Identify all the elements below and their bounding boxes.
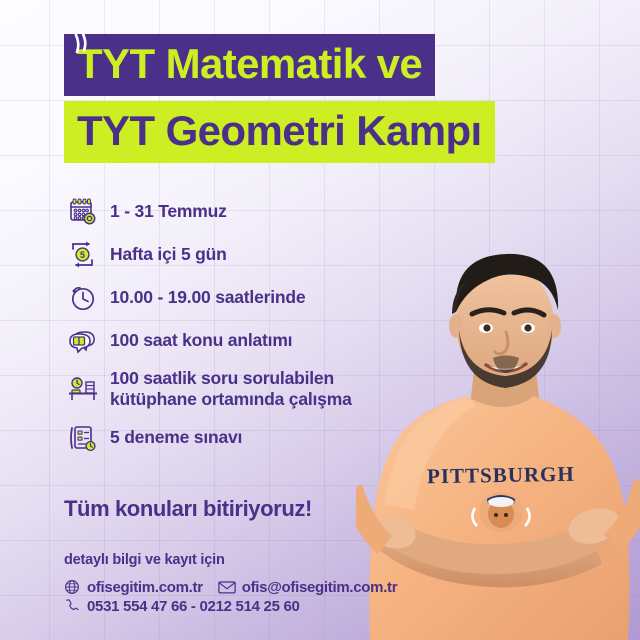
phone-icon <box>62 597 82 615</box>
feature-item-lessons: 100 saat konu anlatımı <box>62 320 402 361</box>
title-block: TYT Matematik ve TYT Geometri Kampı <box>64 34 495 163</box>
email-text: ofis@ofisegitim.com.tr <box>237 579 398 596</box>
feature-text: 5 deneme sınavı <box>104 427 242 448</box>
feature-item-library: 100 saatlik soru sorulabilen kütüphane o… <box>62 363 402 415</box>
contact-lead-text: detaylı bilgi ve kayıt için <box>64 552 225 568</box>
phone-text: 0531 554 47 66 - 0212 514 25 60 <box>82 598 300 615</box>
poster-canvas: PITTSBURGH <box>0 0 640 640</box>
speech-book-icon <box>62 322 104 360</box>
contact-row-primary: ofisegitim.com.tr ofis@ofisegitim.com.tr <box>62 578 397 596</box>
title-line-1: TYT Matematik ve <box>64 34 435 96</box>
cycle-5-icon: 5 <box>62 236 104 274</box>
study-desk-icon <box>62 370 104 408</box>
phone-item[interactable]: 0531 554 47 66 - 0212 514 25 60 <box>62 597 300 615</box>
feature-text: 100 saatlik soru sorulabilen kütüphane o… <box>104 368 352 409</box>
feature-text: 100 saat konu anlatımı <box>104 330 292 351</box>
feature-text-line1: 100 saatlik soru sorulabilen <box>110 368 334 388</box>
email-item[interactable]: ofis@ofisegitim.com.tr <box>217 578 398 596</box>
feature-text: 1 - 31 Temmuz <box>104 201 227 222</box>
website-text: ofisegitim.com.tr <box>82 579 203 596</box>
feature-text-line2: kütüphane ortamında çalışma <box>110 389 352 409</box>
slogan-text: Tüm konuları bitiriyoruz! <box>64 496 312 522</box>
calendar-icon <box>62 193 104 231</box>
clock-icon <box>62 279 104 317</box>
quote-mark-icon <box>69 31 95 57</box>
feature-item-hours: 10.00 - 19.00 saatlerinde <box>62 277 402 318</box>
title-line-2: TYT Geometri Kampı <box>64 101 495 163</box>
svg-text:PITTSBURGH: PITTSBURGH <box>427 462 575 489</box>
contact-block: ofisegitim.com.tr ofis@ofisegitim.com.tr <box>62 578 397 615</box>
feature-item-exams: 5 deneme sınavı <box>62 417 402 458</box>
svg-text:5: 5 <box>80 250 85 260</box>
feature-list: 1 - 31 Temmuz 5 Hafta içi 5 gün <box>62 191 402 460</box>
feature-item-days: 5 Hafta içi 5 gün <box>62 234 402 275</box>
globe-icon <box>62 578 82 596</box>
feature-text: Hafta içi 5 gün <box>104 244 227 265</box>
feature-text: 10.00 - 19.00 saatlerinde <box>104 287 305 308</box>
website-item[interactable]: ofisegitim.com.tr <box>62 578 203 596</box>
feature-item-dates: 1 - 31 Temmuz <box>62 191 402 232</box>
envelope-icon <box>217 578 237 596</box>
contact-row-phone: 0531 554 47 66 - 0212 514 25 60 <box>62 597 397 615</box>
clipboard-icon <box>62 419 104 457</box>
